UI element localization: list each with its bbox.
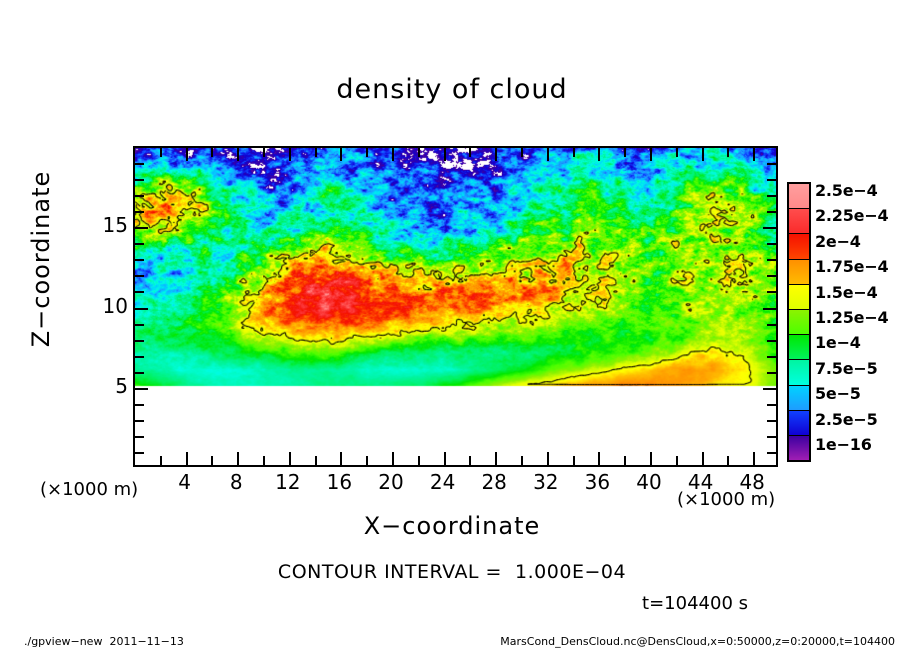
- x-tick-top-16: [340, 148, 342, 161]
- colorbar-label-8: 5e−5: [815, 384, 861, 403]
- x-tick-bottom-36: [598, 452, 600, 465]
- colorbar-band-4: [789, 285, 809, 310]
- x-tick-top-4: [186, 148, 188, 161]
- x-tick-label-16: 16: [314, 470, 364, 494]
- y-tick-left-17: [135, 195, 144, 197]
- x-tick-bottom-48: [753, 452, 755, 465]
- x-tick-top-40: [650, 148, 652, 161]
- x-tick-top-42: [676, 148, 678, 157]
- x-tick-top-22: [418, 148, 420, 157]
- y-tick-right-4: [767, 404, 776, 406]
- x-tick-bottom-12: [289, 452, 291, 465]
- x-axis-unit-note: (×1000 m): [677, 489, 775, 510]
- colorbar-label-4: 1.5e−4: [815, 283, 878, 302]
- y-tick-label-10: 10: [84, 294, 128, 318]
- y-tick-right-2: [767, 436, 776, 438]
- y-tick-right-14: [767, 243, 776, 245]
- y-tick-right-1: [767, 452, 776, 454]
- y-tick-left-15: [135, 227, 148, 229]
- y-tick-label-15: 15: [84, 213, 128, 237]
- colorbar-label-9: 2.5e−5: [815, 410, 878, 429]
- colorbar-label-10: 1e−16: [815, 435, 872, 454]
- y-tick-right-16: [767, 211, 776, 213]
- colorbar-band-3: [789, 260, 809, 285]
- y-tick-left-7: [135, 356, 144, 358]
- colorbar-label-6: 1e−4: [815, 333, 861, 352]
- x-tick-bottom-32: [547, 452, 549, 465]
- x-tick-bottom-46: [727, 456, 729, 465]
- y-tick-right-8: [767, 340, 776, 342]
- x-tick-bottom-34: [573, 456, 575, 465]
- x-tick-bottom-26: [469, 456, 471, 465]
- colorbar-band-9: [789, 411, 809, 436]
- x-tick-bottom-30: [521, 456, 523, 465]
- colorbar-band-5: [789, 310, 809, 335]
- x-tick-label-4: 4: [160, 470, 210, 494]
- x-tick-top-48: [753, 148, 755, 161]
- y-tick-right-3: [767, 420, 776, 422]
- y-tick-left-1: [135, 452, 144, 454]
- x-tick-top-44: [702, 148, 704, 161]
- colorbar-labels: 2.5e−42.25e−42e−41.75e−41.5e−41.25e−41e−…: [815, 182, 904, 462]
- x-tick-top-28: [495, 148, 497, 161]
- y-tick-right-11: [767, 291, 776, 293]
- x-tick-bottom-6: [211, 456, 213, 465]
- x-tick-top-38: [624, 148, 626, 157]
- x-tick-top-46: [727, 148, 729, 157]
- y-tick-left-2: [135, 436, 144, 438]
- y-tick-right-10: [763, 308, 776, 310]
- colorbar-label-1: 2.25e−4: [815, 206, 888, 225]
- y-tick-right-7: [767, 356, 776, 358]
- colorbar-band-7: [789, 360, 809, 385]
- colorbar-label-7: 7.5e−5: [815, 359, 878, 378]
- colorbar-label-0: 2.5e−4: [815, 181, 878, 200]
- cloud-density-field: [135, 148, 776, 465]
- x-tick-label-36: 36: [572, 470, 622, 494]
- x-tick-bottom-16: [340, 452, 342, 465]
- y-tick-left-18: [135, 179, 144, 181]
- colorbar-band-8: [789, 386, 809, 411]
- x-tick-bottom-4: [186, 452, 188, 465]
- x-tick-bottom-38: [624, 456, 626, 465]
- colorbar-band-1: [789, 209, 809, 234]
- x-tick-top-24: [444, 148, 446, 161]
- x-tick-top-34: [573, 148, 575, 157]
- y-tick-left-13: [135, 259, 144, 261]
- x-tick-top-10: [263, 148, 265, 157]
- y-tick-right-9: [767, 324, 776, 326]
- x-tick-bottom-44: [702, 452, 704, 465]
- y-tick-left-19: [135, 163, 144, 165]
- page-title: density of cloud: [0, 74, 904, 105]
- colorbar-label-5: 1.25e−4: [815, 308, 888, 327]
- x-tick-top-6: [211, 148, 213, 157]
- y-tick-left-12: [135, 275, 144, 277]
- y-axis-title: Z−coordinate: [27, 159, 55, 359]
- x-tick-top-20: [392, 148, 394, 161]
- y-tick-label-5: 5: [84, 374, 128, 398]
- x-tick-bottom-20: [392, 452, 394, 465]
- footer-command: ./gpview−new 2011−11−13: [24, 635, 184, 648]
- y-tick-left-6: [135, 372, 144, 374]
- x-tick-bottom-14: [315, 456, 317, 465]
- x-tick-label-40: 40: [624, 470, 674, 494]
- y-tick-left-11: [135, 291, 144, 293]
- x-tick-label-12: 12: [263, 470, 313, 494]
- x-tick-label-20: 20: [366, 470, 416, 494]
- footer-datasource: MarsCond_DensCloud.nc@DensCloud,x=0:5000…: [500, 635, 895, 648]
- y-tick-right-15: [763, 227, 776, 229]
- x-tick-bottom-28: [495, 452, 497, 465]
- colorbar-label-2: 2e−4: [815, 232, 861, 251]
- y-axis-unit-note: (×1000 m): [40, 479, 138, 500]
- x-tick-top-8: [237, 148, 239, 161]
- x-tick-label-24: 24: [418, 470, 468, 494]
- contour-interval-note: CONTOUR INTERVAL = 1.000E−04: [0, 561, 904, 583]
- x-tick-bottom-10: [263, 456, 265, 465]
- x-tick-top-26: [469, 148, 471, 157]
- y-tick-left-9: [135, 324, 144, 326]
- y-tick-left-10: [135, 308, 148, 310]
- colorbar-band-6: [789, 335, 809, 360]
- x-tick-label-8: 8: [211, 470, 261, 494]
- y-tick-right-6: [767, 372, 776, 374]
- y-tick-left-14: [135, 243, 144, 245]
- y-tick-right-17: [767, 195, 776, 197]
- x-tick-bottom-40: [650, 452, 652, 465]
- x-tick-bottom-18: [366, 456, 368, 465]
- y-tick-right-18: [767, 179, 776, 181]
- x-tick-bottom-2: [160, 456, 162, 465]
- colorbar[interactable]: [787, 182, 811, 462]
- y-tick-left-3: [135, 420, 144, 422]
- y-tick-right-5: [763, 388, 776, 390]
- x-tick-top-14: [315, 148, 317, 157]
- x-axis-title: X−coordinate: [0, 512, 904, 540]
- x-tick-top-32: [547, 148, 549, 161]
- timestamp-note: t=104400 s: [0, 593, 904, 614]
- x-tick-bottom-24: [444, 452, 446, 465]
- x-tick-label-32: 32: [521, 470, 571, 494]
- colorbar-label-3: 1.75e−4: [815, 257, 888, 276]
- x-tick-top-18: [366, 148, 368, 157]
- colorbar-band-2: [789, 234, 809, 259]
- x-tick-top-30: [521, 148, 523, 157]
- y-tick-left-4: [135, 404, 144, 406]
- x-tick-label-28: 28: [469, 470, 519, 494]
- y-tick-left-5: [135, 388, 148, 390]
- colorbar-band-0: [789, 184, 809, 209]
- y-tick-left-8: [135, 340, 144, 342]
- x-tick-bottom-22: [418, 456, 420, 465]
- colorbar-band-10: [789, 436, 809, 460]
- contour-plot-area[interactable]: [133, 146, 778, 467]
- x-tick-top-12: [289, 148, 291, 161]
- x-tick-top-36: [598, 148, 600, 161]
- y-tick-right-19: [767, 163, 776, 165]
- y-tick-right-13: [767, 259, 776, 261]
- y-tick-right-12: [767, 275, 776, 277]
- x-tick-top-2: [160, 148, 162, 157]
- x-tick-bottom-42: [676, 456, 678, 465]
- x-tick-bottom-8: [237, 452, 239, 465]
- y-tick-left-16: [135, 211, 144, 213]
